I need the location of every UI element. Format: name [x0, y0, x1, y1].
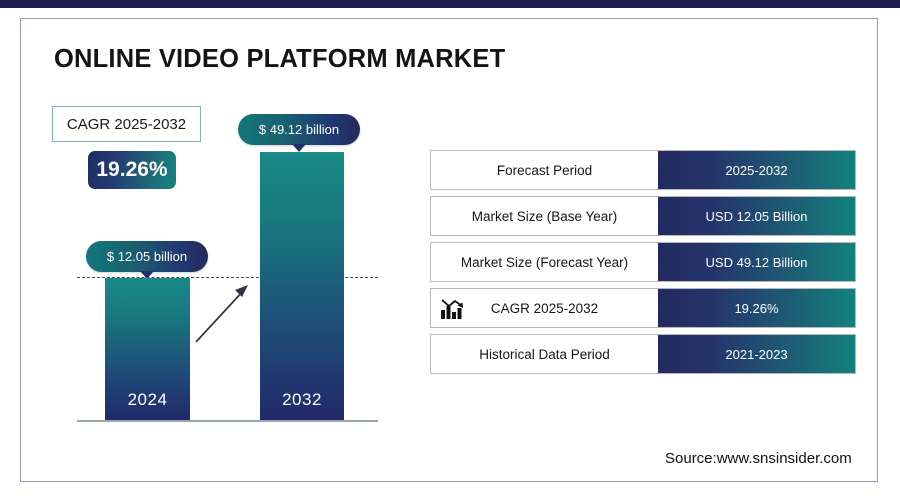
source-attribution: Source:www.snsinsider.com: [665, 450, 852, 467]
table-row-label: Market Size (Forecast Year): [431, 243, 658, 281]
bar-chart: $ 49.12 billion $ 12.05 billion 2024 203…: [0, 0, 430, 500]
infographic-root: ONLINE VIDEO PLATFORM MARKET CAGR 2025-2…: [0, 0, 900, 500]
bar-2032-year-label: 2032: [260, 390, 344, 410]
table-row: Forecast Period 2025-2032: [430, 150, 856, 190]
bar-2024: 2024: [105, 278, 190, 420]
value-callout-2024: $ 12.05 billion: [86, 241, 208, 272]
value-callout-2024-text: $ 12.05 billion: [107, 249, 187, 264]
table-row-value: USD 49.12 Billion: [658, 243, 855, 281]
table-row: CAGR 2025-2032 19.26%: [430, 288, 856, 328]
value-callout-2032: $ 49.12 billion: [238, 114, 360, 145]
bar-chart-trend-icon: [440, 297, 466, 321]
table-row-label: Market Size (Base Year): [431, 197, 658, 235]
table-row-value: USD 12.05 Billion: [658, 197, 855, 235]
chart-baseline-axis: [77, 420, 378, 422]
table-row-label: Forecast Period: [431, 151, 658, 189]
table-row: Market Size (Forecast Year) USD 49.12 Bi…: [430, 242, 856, 282]
summary-table: Forecast Period 2025-2032 Market Size (B…: [430, 150, 856, 380]
table-row-value: 2021-2023: [658, 335, 855, 373]
table-row-label: Historical Data Period: [431, 335, 658, 373]
table-row: Market Size (Base Year) USD 12.05 Billio…: [430, 196, 856, 236]
growth-arrow-icon: [190, 278, 260, 348]
table-row-value: 2025-2032: [658, 151, 855, 189]
value-callout-2032-pointer: [292, 144, 306, 152]
bar-2024-year-label: 2024: [105, 390, 190, 410]
table-row: Historical Data Period 2021-2023: [430, 334, 856, 374]
table-row-value: 19.26%: [658, 289, 855, 327]
table-row-label-text: CAGR 2025-2032: [491, 301, 598, 316]
value-callout-2032-text: $ 49.12 billion: [259, 122, 339, 137]
table-row-label: CAGR 2025-2032: [431, 289, 658, 327]
bar-2032: 2032: [260, 152, 344, 420]
